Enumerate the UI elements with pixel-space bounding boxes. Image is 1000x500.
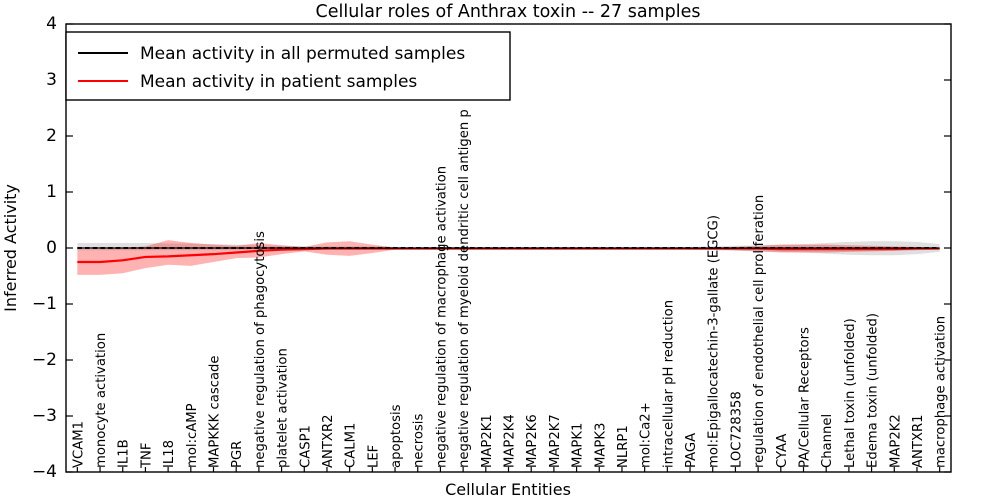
patient-confidence-band (77, 240, 939, 275)
x-tick-label: PAGA (684, 433, 699, 468)
y-axis-title: Inferred Activity (1, 184, 20, 312)
x-tick-label: LEF (366, 445, 381, 468)
x-tick-label-group: VCAM1monocyte activationIL1BTNFIL18mol:c… (71, 109, 948, 469)
y-tick-label: 3 (46, 70, 57, 90)
x-tick-label: macrophage activation (934, 316, 949, 468)
x-tick-label: monocyte activation (94, 333, 109, 468)
x-tick-label: CALM1 (344, 423, 359, 468)
y-tick-label: −3 (32, 406, 57, 426)
figure-canvas: VCAM1monocyte activationIL1BTNFIL18mol:c… (0, 0, 1000, 500)
x-tick-label: MAP2K2 (888, 414, 903, 468)
x-tick-label: negative regulation of macrophage activa… (434, 166, 449, 468)
x-tick-label: Lethal toxin (unfolded) (843, 318, 858, 468)
x-tick-label: mol:Epigallocatechin-3-gallate (EGCG) (707, 215, 722, 468)
x-tick-label: PGR (230, 441, 245, 468)
x-tick-label: MAP2K7 (548, 414, 563, 468)
x-tick-label: MAPK1 (571, 423, 586, 468)
x-tick-label: CYAA (775, 434, 790, 468)
x-tick-label: mol:cAMP (185, 403, 200, 468)
x-tick-label: intracellular pH reduction (661, 300, 676, 468)
x-tick-label: TNF (139, 442, 154, 469)
x-tick-label: MAP2K4 (503, 414, 518, 468)
x-tick-label: Edema toxin (unfolded) (866, 313, 881, 468)
y-tick-label: 1 (46, 182, 57, 202)
x-tick-label: VCAM1 (71, 421, 86, 468)
x-tick-label: CASP1 (298, 425, 313, 468)
x-tick-label: LOC728358 (729, 391, 744, 468)
y-tick-label: −4 (32, 462, 57, 482)
x-tick-label: apoptosis (389, 404, 404, 468)
y-tick-label: 4 (46, 14, 57, 34)
chart-title: Cellular roles of Anthrax toxin -- 27 sa… (316, 2, 701, 22)
x-tick-label: ANTXR1 (911, 414, 926, 468)
x-tick-label: negative regulation of phagocytosis (253, 231, 268, 468)
x-axis-title: Cellular Entities (445, 480, 571, 499)
legend-label-permuted: Mean activity in all permuted samples (140, 44, 465, 64)
x-tick-label: IL18 (162, 440, 177, 468)
x-tick-label: MAP2K1 (480, 414, 495, 468)
x-tick-label: platelet activation (276, 348, 291, 468)
x-tick-label: ANTXR2 (321, 414, 336, 468)
x-tick-label: IL1B (117, 439, 132, 468)
x-tick-label: MAPK3 (593, 423, 608, 468)
x-tick-label: Channel (820, 414, 835, 468)
x-tick-label: negative regulation of myeloid dendritic… (457, 109, 472, 468)
x-tick-label: MAPKKK cascade (208, 355, 223, 468)
y-tick-label: −1 (32, 294, 57, 314)
x-tick-label: regulation of endothelial cell prolifera… (752, 195, 767, 468)
x-tick-label: MAP2K6 (525, 414, 540, 468)
x-tick-label: NLRP1 (616, 425, 631, 468)
y-tick-label: 0 (46, 238, 57, 258)
chart-legend[interactable]: Mean activity in all permuted samples Me… (66, 32, 510, 100)
chart-svg[interactable]: VCAM1monocyte activationIL1BTNFIL18mol:c… (0, 0, 1000, 500)
x-tick-label: necrosis (412, 414, 427, 468)
legend-label-patient: Mean activity in patient samples (140, 72, 417, 92)
y-tick-label: −2 (32, 350, 57, 370)
x-tick-label: mol:Ca2+ (639, 402, 654, 468)
band-patient-group (77, 240, 939, 275)
y-tick-label: 2 (46, 126, 57, 146)
x-tick-label: PA/Cellular Receptors (798, 327, 813, 468)
